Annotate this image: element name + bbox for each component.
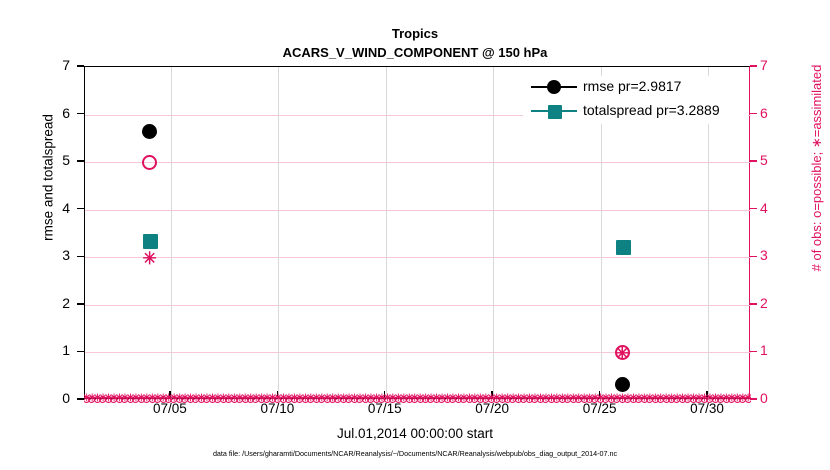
data-point-filled-circle <box>142 124 157 139</box>
y-tick-label-2: 2 <box>8 295 70 311</box>
gridline-y-4 <box>85 210 751 211</box>
x-axis-title: Jul.01,2014 00:00:00 start <box>0 426 830 441</box>
gridline-x-07-15 <box>386 67 387 400</box>
y-tick-label-0: 0 <box>8 390 70 406</box>
y-tick-label-3: 3 <box>8 247 70 263</box>
data-point-asterisk: ✳ <box>615 345 629 359</box>
y2-tick-label-5: 5 <box>760 152 790 168</box>
y2-tick-label-3: 3 <box>760 247 790 263</box>
chart-canvas: Tropics ACARS_V_WIND_COMPONENT @ 150 hPa… <box>0 0 830 470</box>
gridline-y-3 <box>85 257 751 258</box>
y-axis-left-title: rmse and totalspread <box>41 53 56 303</box>
gridline-x-07-20 <box>493 67 494 400</box>
legend-label: totalspread pr=3.2889 <box>583 100 720 121</box>
data-point-asterisk: ✳ <box>142 250 156 264</box>
legend-marker-circle <box>547 80 561 94</box>
data-point-filled-square <box>143 234 158 249</box>
data-file-note: data file: /Users/gharamti/Documents/NCA… <box>0 449 830 458</box>
legend: rmse pr=2.9817totalspread pr=3.2889 <box>523 76 748 124</box>
y-tick-mark-4 <box>77 208 84 209</box>
y2-tick-mark-5 <box>750 160 757 161</box>
y-tick-mark-7 <box>77 65 84 66</box>
y2-tick-label-7: 7 <box>760 57 790 73</box>
y2-tick-label-0: 0 <box>760 390 790 406</box>
obs-baseline-strip: ✳✳✳✳✳✳✳✳✳✳✳✳✳✳✳✳✳✳✳✳✳✳✳✳✳✳✳✳✳✳✳✳✳✳✳✳✳✳✳✳… <box>84 386 751 412</box>
y2-tick-label-2: 2 <box>760 295 790 311</box>
y2-tick-mark-1 <box>750 351 757 352</box>
y-tick-mark-1 <box>77 351 84 352</box>
legend-label: rmse pr=2.9817 <box>583 76 681 97</box>
y2-tick-mark-3 <box>750 256 757 257</box>
y2-tick-mark-0 <box>750 398 757 399</box>
y-tick-mark-3 <box>77 256 84 257</box>
page-title: Tropics <box>0 26 830 41</box>
y-tick-mark-6 <box>77 113 84 114</box>
gridline-x-07-10 <box>278 67 279 400</box>
y2-tick-mark-7 <box>750 65 757 66</box>
y-tick-label-5: 5 <box>8 152 70 168</box>
y-tick-label-1: 1 <box>8 342 70 358</box>
y-tick-mark-2 <box>77 303 84 304</box>
data-point-open-circle <box>142 155 157 170</box>
y2-tick-label-4: 4 <box>760 200 790 216</box>
y-axis-right-title: # of obs: o=possible; ∗=assimilated <box>809 23 825 313</box>
legend-marker-square <box>548 105 562 119</box>
y-tick-label-7: 7 <box>8 57 70 73</box>
obs-assimilated-marker: ✳ <box>744 394 751 404</box>
y2-tick-mark-4 <box>750 208 757 209</box>
y-tick-label-6: 6 <box>8 105 70 121</box>
y-tick-label-4: 4 <box>8 200 70 216</box>
gridline-y-5 <box>85 162 751 163</box>
y-tick-mark-5 <box>77 160 84 161</box>
y-tick-mark-0 <box>77 398 84 399</box>
y2-tick-mark-2 <box>750 303 757 304</box>
chart-subtitle: ACARS_V_WIND_COMPONENT @ 150 hPa <box>0 45 830 60</box>
y2-tick-label-6: 6 <box>760 105 790 121</box>
data-point-filled-square <box>616 240 631 255</box>
y2-tick-mark-6 <box>750 113 757 114</box>
legend-item-1[interactable]: rmse pr=2.9817 <box>523 76 748 98</box>
gridline-x-07-05 <box>171 67 172 400</box>
gridline-y-1 <box>85 352 751 353</box>
legend-item-2[interactable]: totalspread pr=3.2889 <box>523 100 748 122</box>
y2-tick-label-1: 1 <box>760 342 790 358</box>
gridline-y-2 <box>85 305 751 306</box>
